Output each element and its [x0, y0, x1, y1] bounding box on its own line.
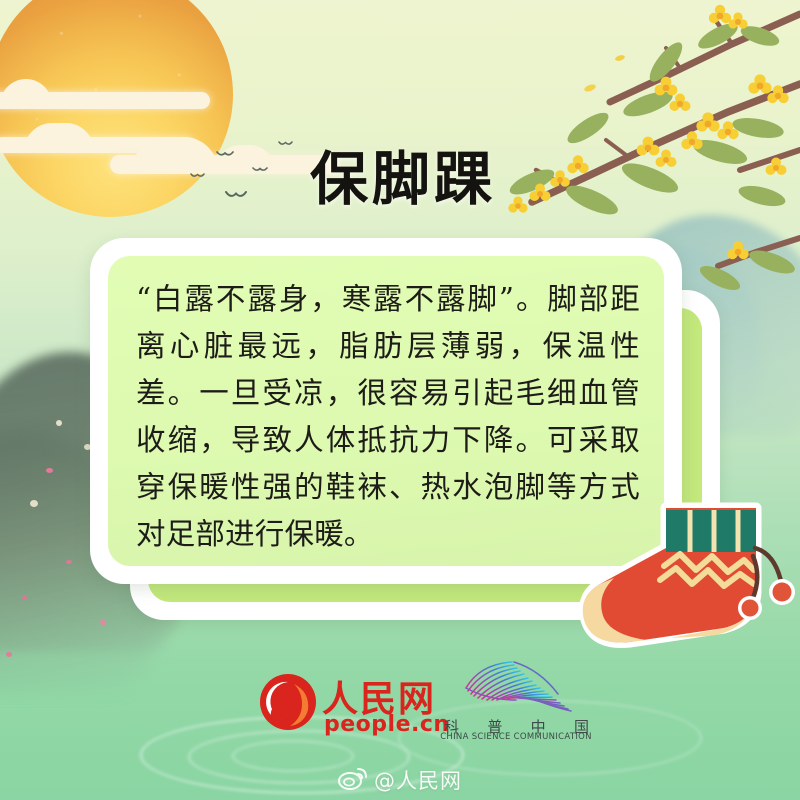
- birds-icon: [190, 172, 206, 181]
- falling-petal-icon: [66, 560, 72, 564]
- people-cn-domain: people.cn: [324, 712, 450, 737]
- birds-icon: [225, 190, 241, 199]
- birds-icon: [216, 150, 232, 159]
- falling-petal-icon: [22, 596, 27, 600]
- cloud-icon: [0, 92, 210, 109]
- page-title: 保脚踝: [310, 132, 496, 216]
- falling-petal-icon: [56, 420, 62, 426]
- logo-row: 人民网 people.cn: [0, 660, 800, 755]
- falling-petal-icon: [30, 500, 38, 507]
- china-science-communication-logo: 科 普 中 国 CHINA SCIENCE COMMUNICATION: [440, 660, 590, 750]
- falling-petal-icon: [46, 468, 53, 473]
- people-cn-logo: 人民网 people.cn: [258, 668, 458, 748]
- falling-petal-icon: [6, 652, 12, 657]
- warm-sock-icon: [548, 492, 800, 667]
- china-science-communication-english: CHINA SCIENCE COMMUNICATION: [440, 732, 592, 742]
- weibo-handle: @人民网: [374, 765, 462, 795]
- birds-icon: [252, 166, 268, 175]
- poster-canvas: 保脚踝 “白露不露身，寒露不露脚”。脚部距离心脏最远，脂肪层薄弱，保温性差。一旦…: [0, 0, 800, 800]
- weibo-icon: [338, 766, 368, 795]
- falling-petal-icon: [100, 620, 106, 625]
- birds-icon: [278, 140, 294, 149]
- weibo-watermark: @人民网: [0, 762, 800, 798]
